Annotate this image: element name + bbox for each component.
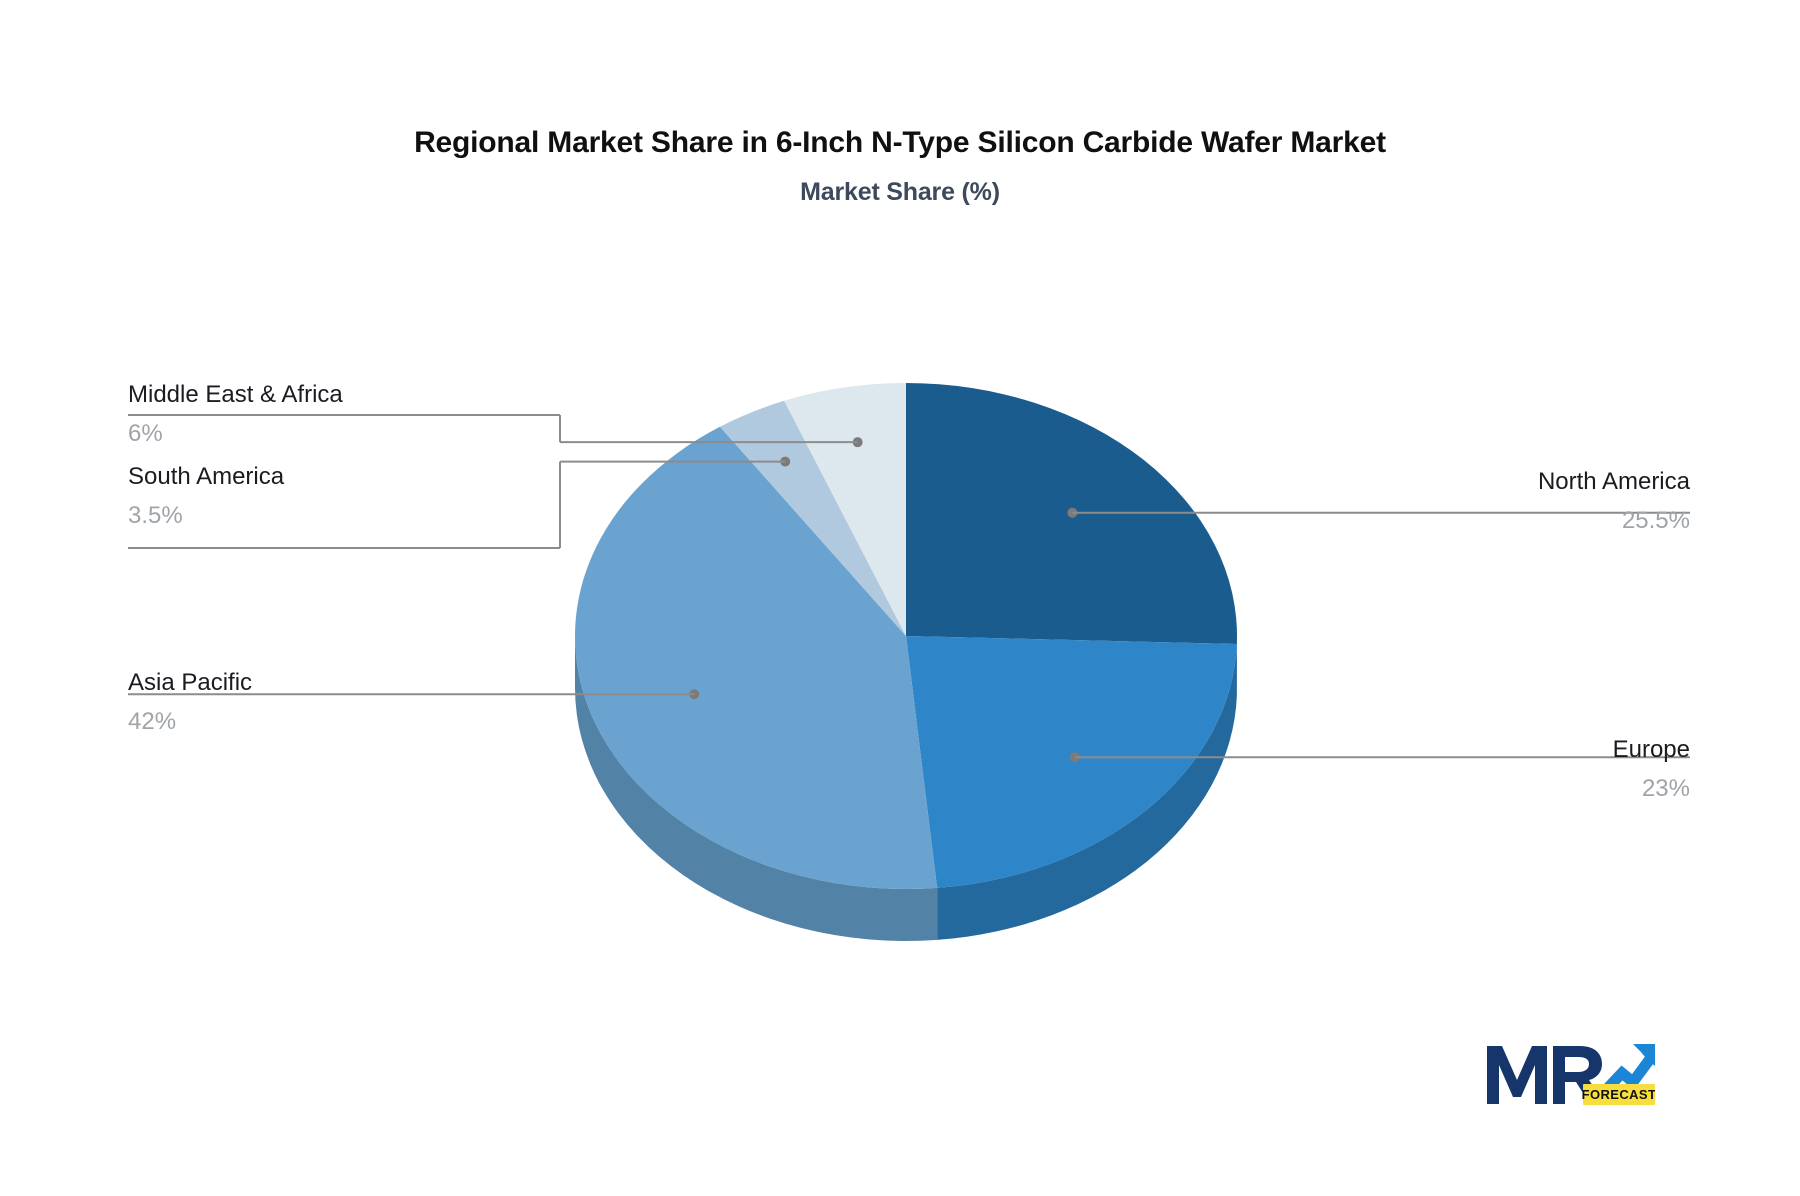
pie-label-name: South America <box>128 462 284 492</box>
pie-label-value: 3.5% <box>128 492 284 531</box>
pie-label-north-america: North America 25.5% <box>1180 467 1690 536</box>
logo-forecast-badge: FORECAST <box>1582 1084 1655 1105</box>
pie-label-value: 42% <box>128 698 252 737</box>
pie-chart <box>0 0 1800 1196</box>
pie-label-value: 25.5% <box>1180 497 1690 536</box>
pie-label-south-america: South America 3.5% <box>128 462 284 531</box>
pie-label-asia-pacific: Asia Pacific 42% <box>128 668 252 737</box>
pie-label-name: Middle East & Africa <box>128 380 343 410</box>
pie-label-name: Europe <box>1180 735 1690 765</box>
logo-badge-label: FORECAST <box>1582 1087 1655 1102</box>
mr-forecast-logo: FORECAST <box>1483 1032 1655 1114</box>
pie-label-europe: Europe 23% <box>1180 735 1690 804</box>
pie-label-middle-east-africa: Middle East & Africa 6% <box>128 380 343 449</box>
pie-top-faces <box>575 383 1237 889</box>
pie-label-name: North America <box>1180 467 1690 497</box>
pie-label-name: Asia Pacific <box>128 668 252 698</box>
chart-canvas: Regional Market Share in 6-Inch N-Type S… <box>0 0 1800 1196</box>
pie-label-value: 23% <box>1180 765 1690 804</box>
logo-growth-arrow-icon <box>1605 1044 1655 1091</box>
pie-label-value: 6% <box>128 410 343 449</box>
